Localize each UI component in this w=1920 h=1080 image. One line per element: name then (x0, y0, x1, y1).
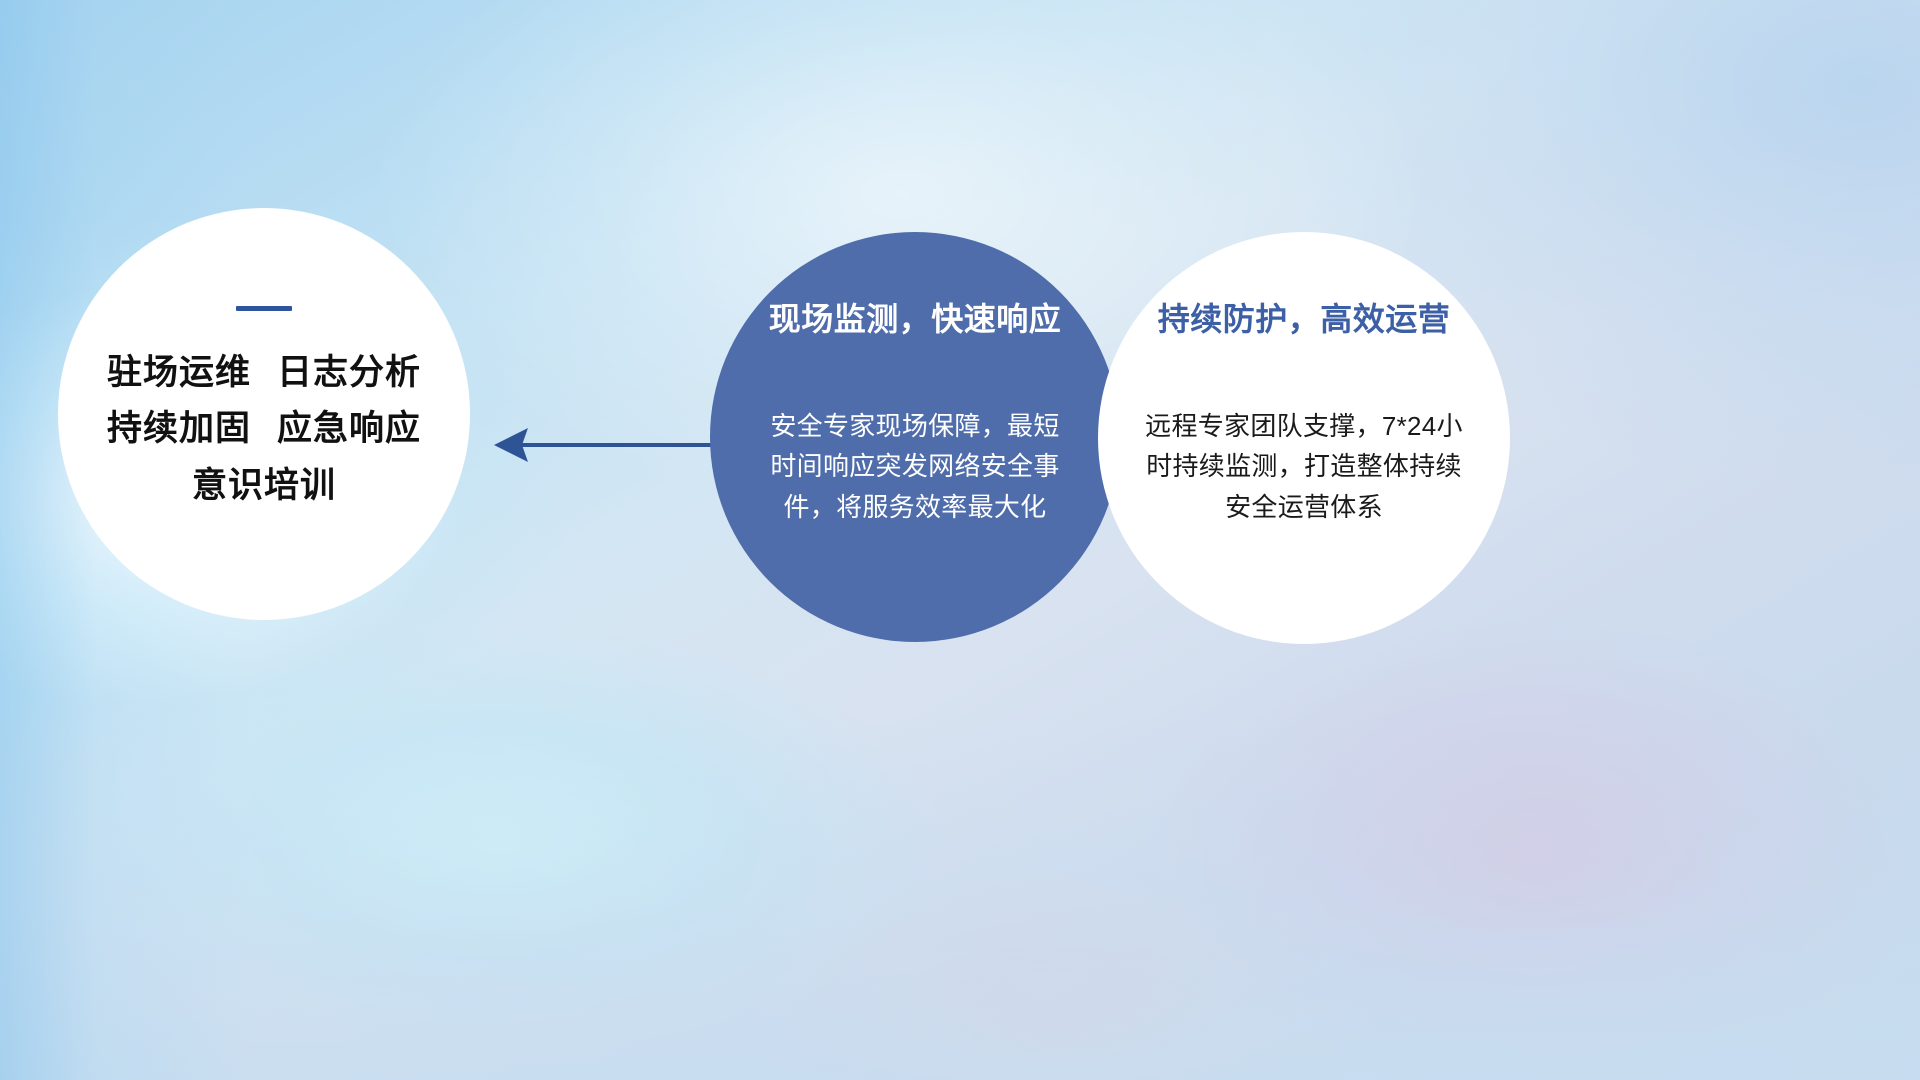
capability-keyword: 日志分析 (277, 353, 421, 392)
onsite-monitoring-body: 安全专家现场保障，最短时间响应突发网络安全事件，将服务效率最大化 (770, 406, 1060, 527)
capability-keyword: 应急响应 (277, 409, 421, 448)
capability-keyword: 意识培训 (192, 466, 336, 505)
capability-row: 意识培训 (192, 466, 336, 506)
continuous-protection-body: 远程专家团队支撑，7*24小时持续监测，打造整体持续安全运营体系 (1139, 406, 1469, 527)
continuous-protection-title: 持续防护，高效运营 (1158, 294, 1451, 340)
accent-dash-divider (236, 306, 292, 311)
onsite-monitoring-card[interactable]: 现场监测，快速响应 安全专家现场保障，最短时间响应突发网络安全事件，将服务效率最… (710, 232, 1120, 642)
capability-keyword-list: 驻场运维日志分析 持续加固应急响应 意识培训 (107, 353, 421, 506)
service-capability-card[interactable]: 驻场运维日志分析 持续加固应急响应 意识培训 (58, 208, 470, 620)
capability-keyword: 驻场运维 (107, 353, 251, 392)
onsite-monitoring-title: 现场监测，快速响应 (769, 294, 1062, 340)
capability-row: 持续加固应急响应 (107, 409, 421, 449)
slide-canvas: 驻场运维日志分析 持续加固应急响应 意识培训 现场监测，快速响应 安全专家现场保… (0, 0, 1920, 1080)
capability-keyword: 持续加固 (107, 409, 251, 448)
continuous-protection-card[interactable]: 持续防护，高效运营 远程专家团队支撑，7*24小时持续监测，打造整体持续安全运营… (1098, 232, 1510, 644)
capability-row: 驻场运维日志分析 (107, 353, 421, 393)
